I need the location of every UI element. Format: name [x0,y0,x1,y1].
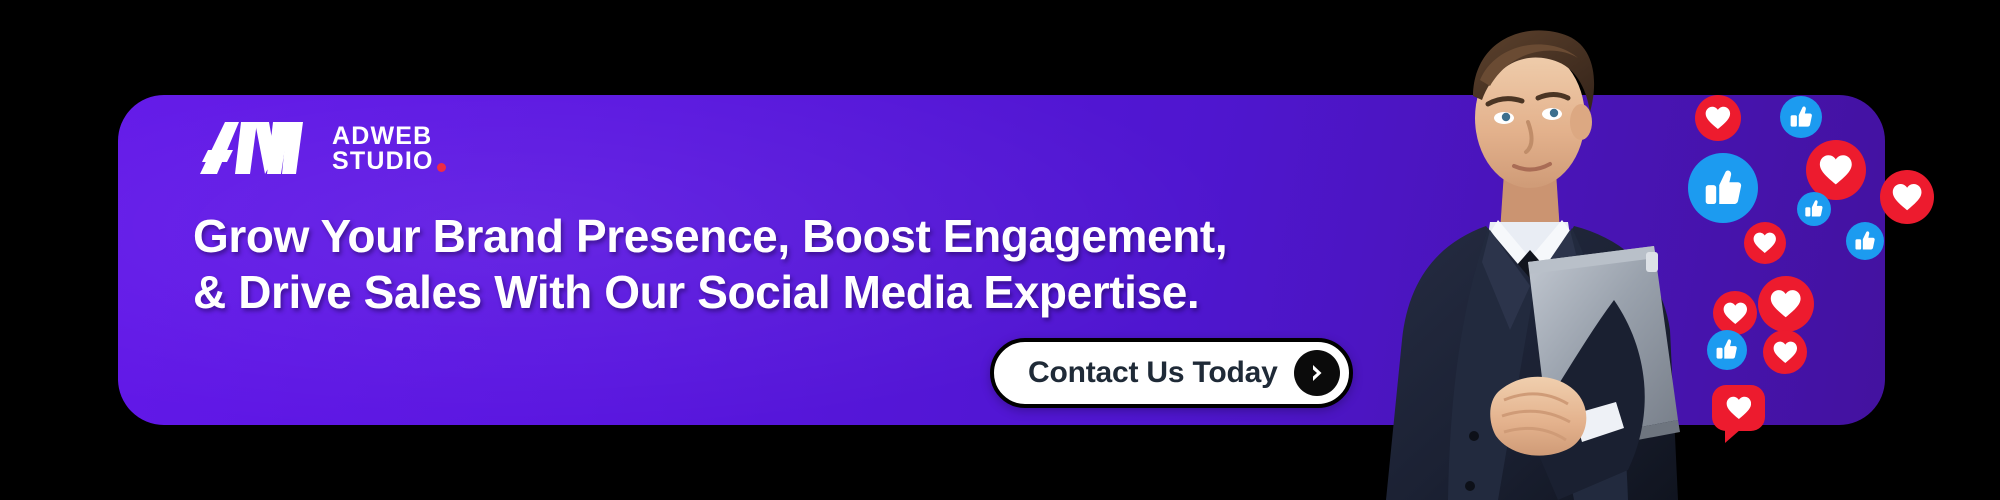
brand-name-line1: ADWEB [332,124,446,149]
brand-accent-dot-icon [437,163,446,172]
headline-line-2: & Drive Sales With Our Social Media Expe… [193,264,1373,320]
heart-reaction-icon [1880,170,1934,224]
thumb-reaction-icon [1797,192,1831,226]
promo-banner: ADWEB STUDIO Grow Your Brand Presence, B… [0,0,2000,500]
thumb-reaction-icon [1780,96,1822,138]
brand-logo[interactable]: ADWEB STUDIO [195,122,446,174]
brand-name-line2-wrap: STUDIO [332,149,446,174]
heart-reaction-icon [1763,330,1807,374]
thumb-reaction-icon [1846,222,1884,260]
heart-reaction-icon [1806,140,1866,200]
contact-us-button-label: Contact Us Today [1028,356,1278,390]
aw-monogram-icon [195,122,318,174]
heart-reaction-icon [1758,276,1814,332]
brand-name-line2: STUDIO [332,149,434,174]
contact-us-button[interactable]: Contact Us Today [990,338,1353,408]
businessman-photo [1378,0,1758,500]
headline: Grow Your Brand Presence, Boost Engageme… [193,208,1373,320]
headline-line-1: Grow Your Brand Presence, Boost Engageme… [193,208,1373,264]
chevron-right-icon [1294,350,1340,396]
brand-wordmark: ADWEB STUDIO [332,122,446,174]
